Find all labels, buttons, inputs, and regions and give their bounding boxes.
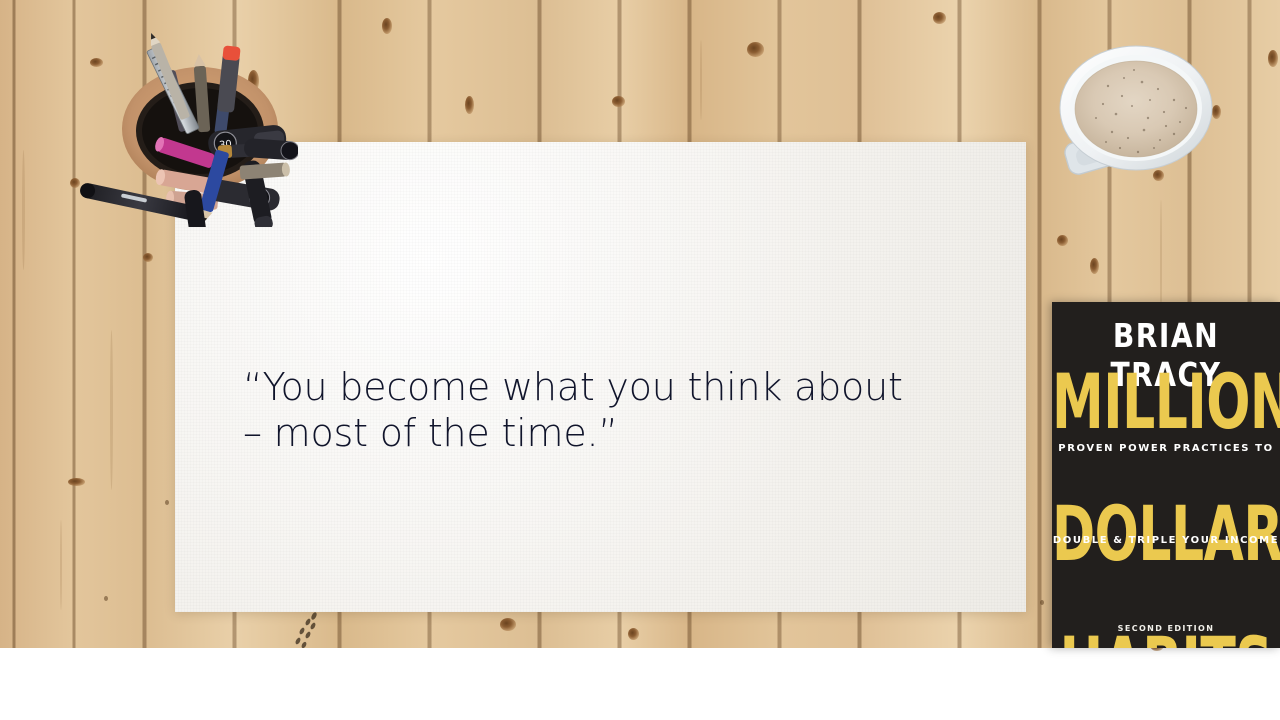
- wood-knot: [1268, 50, 1278, 67]
- wood-grain-streak: [110, 330, 113, 490]
- wood-knot: [68, 478, 85, 486]
- book-title-line-1: MILLION: [1052, 360, 1280, 447]
- wood-knot: [1090, 258, 1099, 274]
- wood-grain-streak: [22, 150, 25, 270]
- wood-grain-streak: [700, 40, 702, 120]
- slide-canvas: “You become what you think about – most …: [0, 0, 1280, 720]
- desk-scratch-marks: [288, 612, 328, 648]
- wood-knot: [933, 12, 946, 24]
- wood-nail-hole: [165, 500, 169, 505]
- coffee-mug-icon: [1046, 34, 1226, 194]
- quote-line-2: – most of the time.”: [243, 410, 983, 456]
- book-subtitle-1: PROVEN POWER PRACTICES TO: [1052, 443, 1280, 454]
- wood-grain-streak: [60, 520, 62, 610]
- wood-nail-hole: [1040, 600, 1044, 605]
- wood-knot: [143, 253, 153, 262]
- wood-knot: [612, 96, 625, 107]
- wood-knot: [747, 42, 764, 57]
- book-edition-label: SECOND EDITION: [1052, 624, 1280, 633]
- book-cover: BRIAN TRACY MILLION PROVEN POWER PRACTIC…: [1052, 302, 1280, 648]
- wood-nail-hole: [104, 596, 108, 601]
- quote-text-block: “You become what you think about – most …: [243, 364, 983, 456]
- wood-knot: [382, 18, 392, 34]
- wood-knot: [500, 618, 516, 631]
- quote-card: “You become what you think about – most …: [175, 142, 1026, 612]
- quote-line-1: “You become what you think about: [243, 364, 983, 410]
- pen-holder-icon: 30 03: [68, 32, 298, 227]
- wood-knot: [1057, 235, 1068, 246]
- wood-knot: [465, 96, 474, 114]
- wood-knot: [628, 628, 639, 640]
- book-subtitle-2: DOUBLE & TRIPLE YOUR INCOME: [1052, 535, 1280, 546]
